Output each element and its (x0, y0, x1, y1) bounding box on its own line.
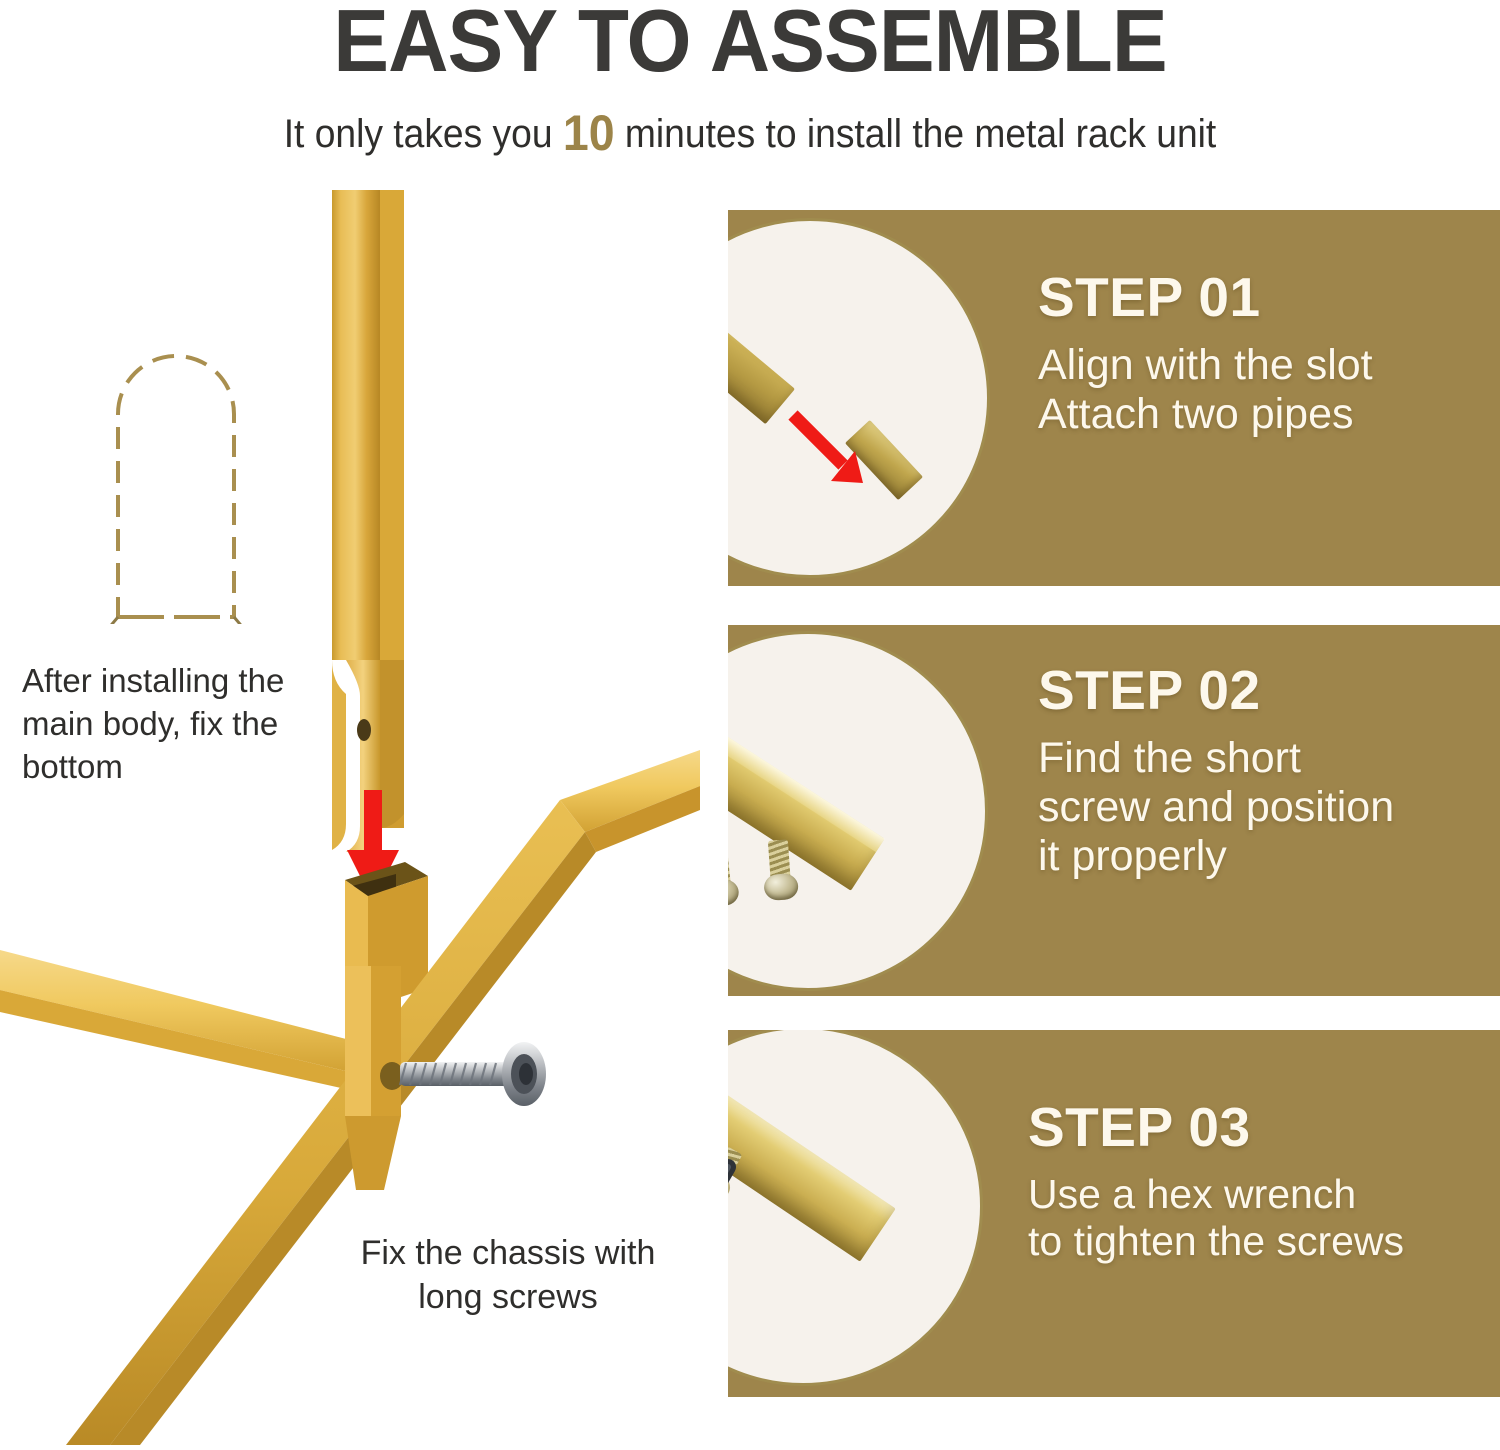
screw-head (763, 873, 799, 901)
step-2-number: STEP 02 (1038, 663, 1486, 718)
short-screw-1-icon (728, 844, 740, 909)
page-subtitle: It only takes you 10 minutes to install … (53, 104, 1448, 162)
header: EASY TO ASSEMBLE It only takes you 10 mi… (0, 0, 1500, 180)
step-3-photo-inset (728, 1030, 983, 1386)
step-1-number: STEP 01 (1038, 270, 1486, 325)
page-title: EASY TO ASSEMBLE (38, 0, 1463, 86)
middle-caption: Fix the chassis with long screws (358, 1232, 658, 1319)
step-panel-1: STEP 01 Align with the slot Attach two p… (728, 210, 1500, 586)
step-2-line-1: Find the short (1038, 734, 1486, 783)
screw-head (728, 878, 740, 907)
red-insert-arrow-icon (785, 407, 877, 499)
step-3-line-2: to tighten the screws (1028, 1218, 1486, 1265)
subtitle-number: 10 (563, 105, 615, 161)
short-screw-2-icon (761, 839, 799, 903)
step-3-number: STEP 03 (1028, 1100, 1486, 1155)
step-2-line-2: screw and position (1038, 783, 1486, 832)
step-1-photo-inset (728, 218, 990, 578)
step-2-description: Find the short screw and position it pro… (1038, 734, 1486, 881)
step-2-text: STEP 02 Find the short screw and positio… (1038, 663, 1486, 881)
step-3-line-1: Use a hex wrench (1028, 1171, 1486, 1218)
hex-wrench-icon (728, 1149, 750, 1299)
gold-pipe-joint (728, 1030, 896, 1262)
step-1-description: Align with the slot Attach two pipes (1038, 341, 1486, 439)
step-1-line-1: Align with the slot (1038, 341, 1486, 390)
step-1-text: STEP 01 Align with the slot Attach two p… (1038, 270, 1486, 439)
step-3-text: STEP 03 Use a hex wrench to tighten the … (1028, 1100, 1486, 1264)
vertical-pipe-upper (332, 190, 404, 852)
arch-frame-outline-icon (96, 334, 256, 624)
step-panel-2: STEP 02 Find the short screw and positio… (728, 625, 1500, 996)
base-leg-back-left (0, 950, 350, 1090)
step-1-line-2: Attach two pipes (1038, 390, 1486, 439)
subtitle-after: minutes to install the metal rack unit (615, 112, 1217, 156)
gold-pipe-upper (728, 260, 795, 424)
step-panel-3: STEP 03 Use a hex wrench to tighten the … (728, 1030, 1500, 1397)
subtitle-before: It only takes you (284, 112, 563, 156)
gold-pipe-joint (728, 659, 885, 891)
step-3-description: Use a hex wrench to tighten the screws (1028, 1171, 1486, 1264)
infographic-page: EASY TO ASSEMBLE It only takes you 10 mi… (0, 0, 1500, 1445)
left-caption: After installing the main body, fix the … (22, 660, 322, 789)
step-2-photo-inset (728, 631, 988, 991)
vertical-post-lower (345, 966, 404, 1190)
step-2-line-3: it properly (1038, 832, 1486, 881)
